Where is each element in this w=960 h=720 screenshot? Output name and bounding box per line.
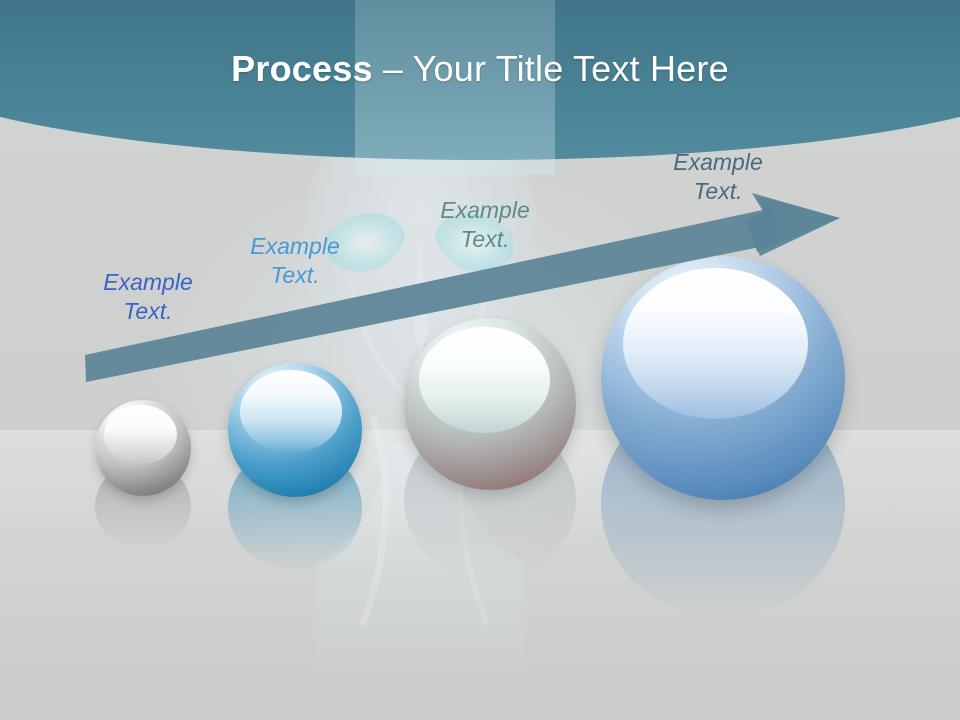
label-step-1-line2: Text. bbox=[78, 297, 218, 326]
label-step-3-line2: Text. bbox=[415, 225, 555, 254]
label-step-3-line1: Example bbox=[440, 197, 529, 223]
label-step-2: Example Text. bbox=[225, 232, 365, 291]
label-step-3: Example Text. bbox=[415, 196, 555, 255]
label-step-4-line2: Text. bbox=[648, 177, 788, 206]
label-step-1-line1: Example bbox=[103, 269, 192, 295]
label-step-1: Example Text. bbox=[78, 268, 218, 327]
slide-canvas: Process – Your Title Text Here bbox=[0, 0, 960, 720]
label-step-4-line1: Example bbox=[673, 149, 762, 175]
label-step-2-line1: Example bbox=[250, 233, 339, 259]
label-step-2-line2: Text. bbox=[225, 261, 365, 290]
label-step-4: Example Text. bbox=[648, 148, 788, 207]
process-arrow[interactable] bbox=[0, 0, 960, 720]
